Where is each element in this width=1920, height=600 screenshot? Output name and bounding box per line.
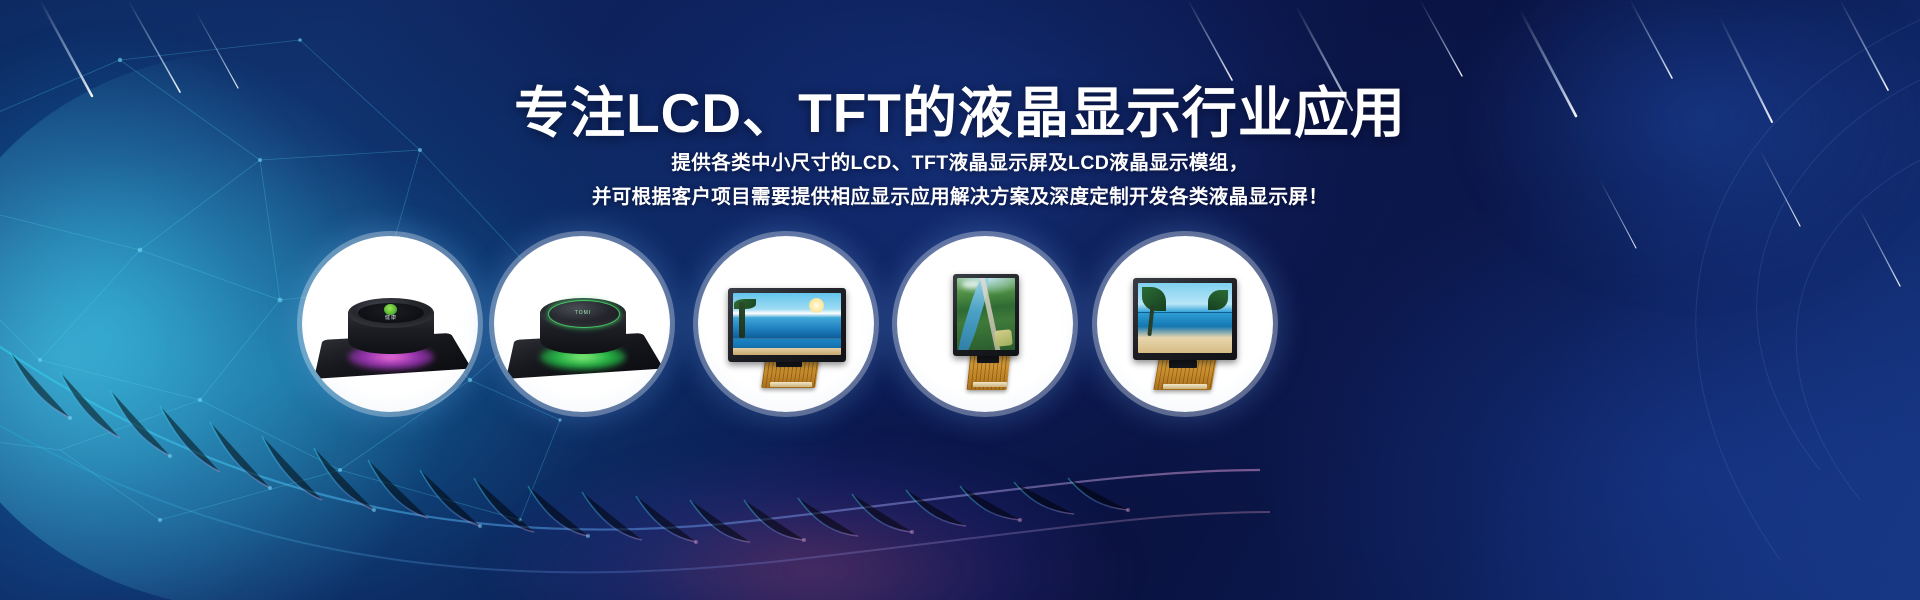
screen-scene-beach — [733, 293, 841, 355]
page-title: 专注LCD、TFT的液晶显示行业应用 — [0, 68, 1920, 148]
product-image-smart-puck-purple: 健康 — [302, 236, 478, 412]
product-image-tft-wide — [698, 236, 874, 412]
product-circle-5[interactable] — [1097, 236, 1273, 412]
product-circle-1[interactable]: 健康 — [302, 236, 478, 412]
screen-scene-aerial — [957, 278, 1015, 350]
subtitle-line-2: 并可根据客户项目需要提供相应显示应用解决方案及深度定制开发各类液晶显示屏！ — [0, 180, 1920, 209]
lcd-screen — [957, 278, 1015, 350]
product-image-tft-square — [1097, 236, 1273, 412]
driver-chip — [1169, 360, 1197, 368]
screen-scene-sea — [1138, 283, 1232, 353]
device-screen-label: TOMI — [560, 310, 606, 316]
lcd-screen — [1138, 283, 1232, 353]
subtitle-line-1: 提供各类中小尺寸的LCD、TFT液晶显示屏及LCD液晶显示模组， — [0, 146, 1920, 175]
device-screen-label: 健康 — [368, 314, 414, 321]
product-image-smart-puck-green: TOMI — [494, 236, 670, 412]
cable-connector — [770, 382, 812, 387]
product-image-tft-portrait — [897, 236, 1073, 412]
driver-chip — [977, 356, 999, 363]
product-circle-2[interactable]: TOMI — [494, 236, 670, 412]
product-showcase: 健康 TOMI — [0, 236, 1920, 412]
lcd-screen — [733, 293, 841, 355]
cable-connector — [973, 382, 1007, 387]
banner-content: 专注LCD、TFT的液晶显示行业应用 提供各类中小尺寸的LCD、TFT液晶显示屏… — [0, 0, 1920, 600]
hero-banner: 专注LCD、TFT的液晶显示行业应用 提供各类中小尺寸的LCD、TFT液晶显示屏… — [0, 0, 1920, 600]
cable-connector — [1163, 384, 1207, 389]
product-circle-4[interactable] — [897, 236, 1073, 412]
product-circle-3[interactable] — [698, 236, 874, 412]
